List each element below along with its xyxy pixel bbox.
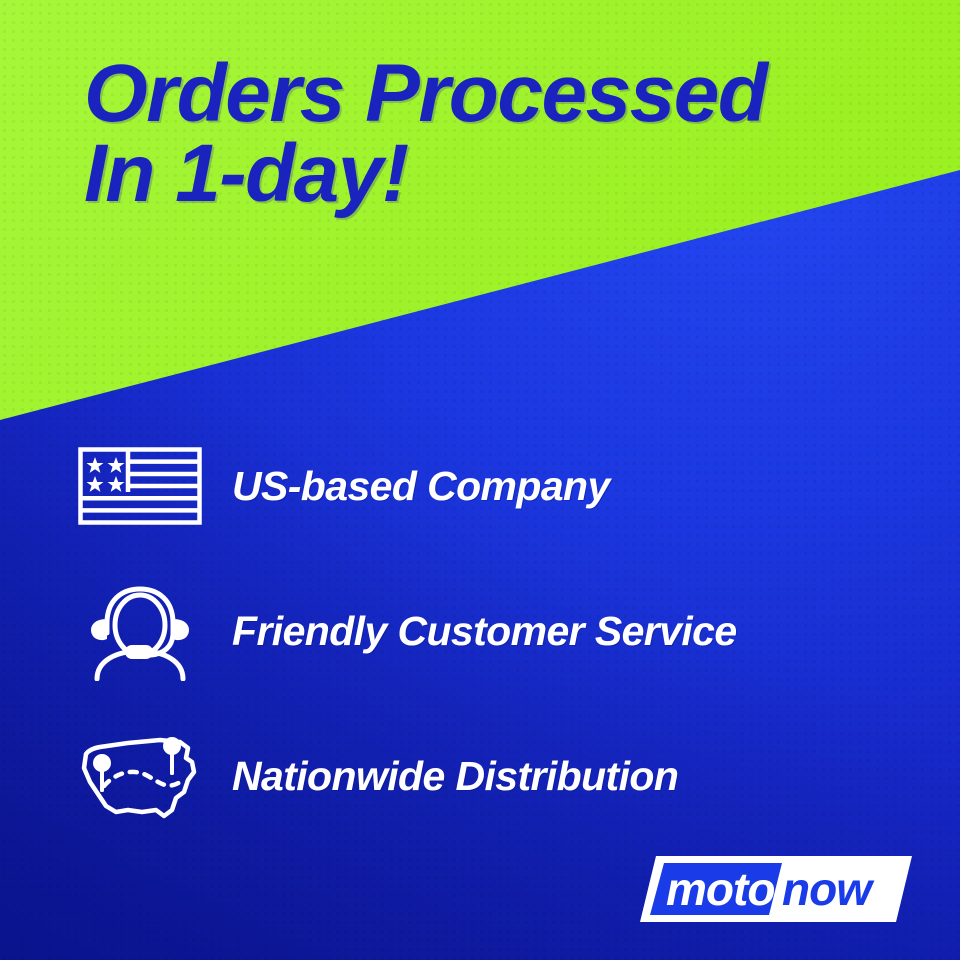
headline: Orders Processed In 1-day! [84,54,924,215]
feature-list: US-based Company Friendly Customer Ser [70,436,890,871]
motonow-logo[interactable]: moto now [640,852,912,926]
feature-label: US-based Company [232,463,610,510]
feature-label: Friendly Customer Service [232,608,737,655]
feature-item: US-based Company [70,436,890,536]
logo-text-moto: moto [666,863,774,915]
feature-item: Friendly Customer Service [70,581,890,681]
headset-support-icon [70,581,210,681]
promo-poster: Orders Processed In 1-day! [0,0,960,960]
logo-text-now: now [782,863,875,915]
feature-item: Nationwide Distribution [70,726,890,826]
feature-label: Nationwide Distribution [232,753,678,800]
us-map-route-icon [70,732,210,820]
us-flag-icon [70,447,210,525]
